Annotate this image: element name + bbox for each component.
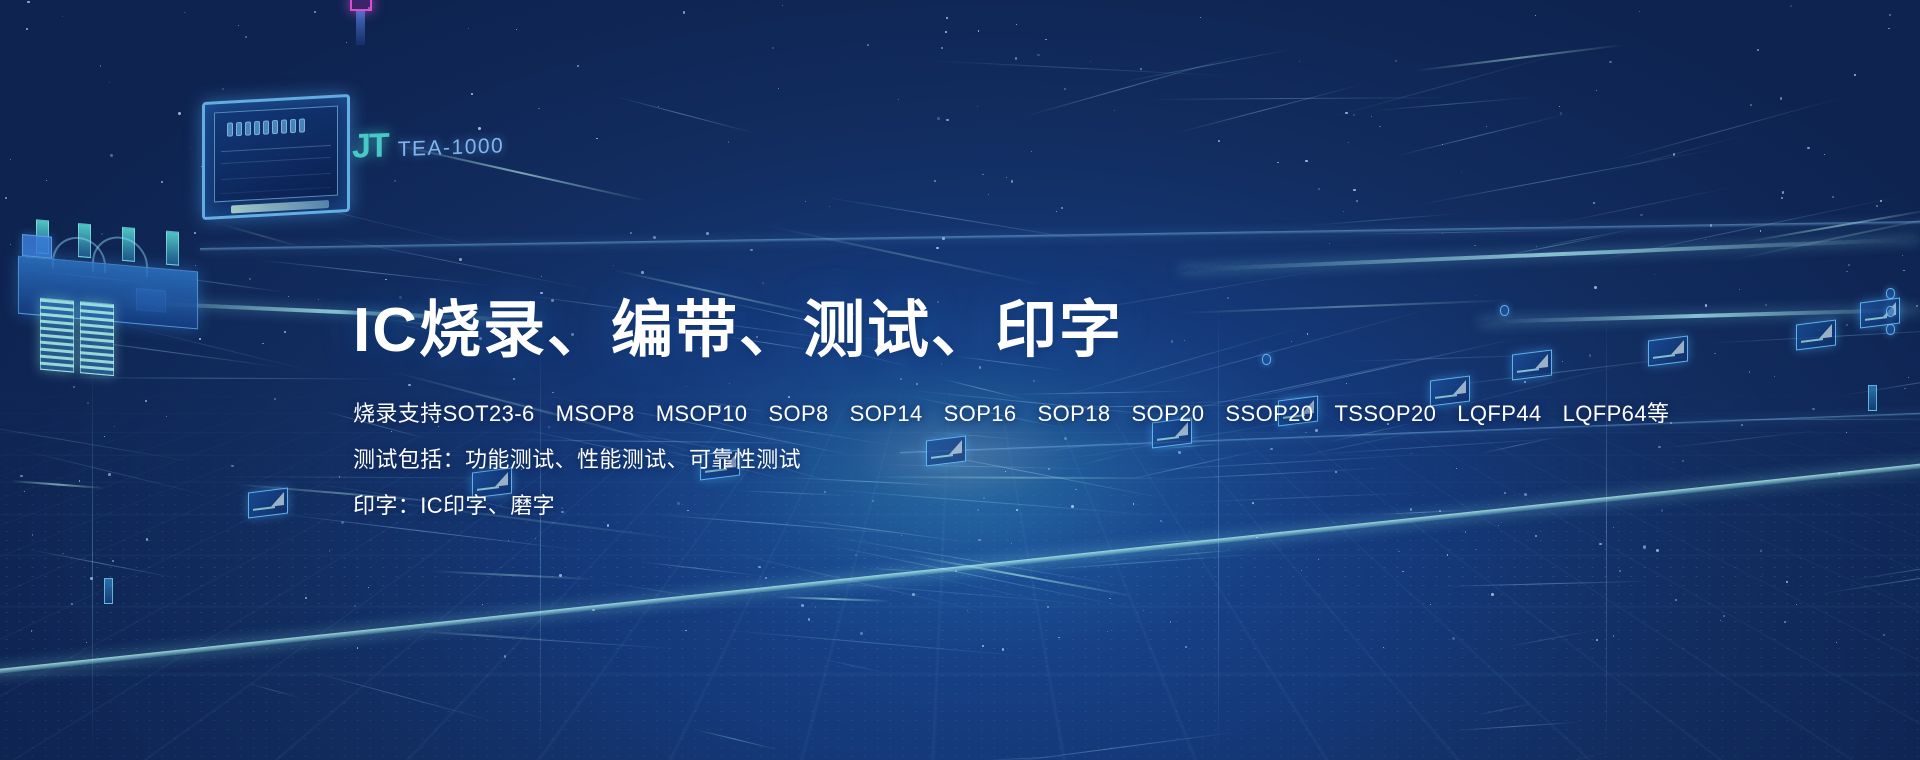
vertical-strip-icon <box>104 578 113 604</box>
equipment-logo: JT TEA-1000 <box>352 122 504 166</box>
star-dot <box>1908 377 1910 379</box>
light-streak <box>220 223 305 249</box>
light-streak <box>1595 133 1753 177</box>
star-dot <box>728 141 730 143</box>
star-dot <box>577 65 579 67</box>
star-dot <box>750 249 752 251</box>
star-dot <box>1200 17 1202 19</box>
star-dot <box>245 36 247 38</box>
star-dot <box>1790 5 1792 7</box>
star-dot <box>1474 245 1476 247</box>
star-dot <box>1559 106 1560 107</box>
star-dot <box>222 88 224 90</box>
star-dot <box>1061 207 1063 209</box>
star-dot <box>1876 205 1878 207</box>
star-dot <box>1639 11 1640 12</box>
star-dot <box>1218 140 1220 142</box>
star-dot <box>1560 112 1563 115</box>
star-dot <box>1673 153 1676 156</box>
star-dot <box>1780 97 1783 100</box>
star-dot <box>284 331 286 333</box>
banner-content: IC烧录、编带、测试、印字 烧录支持SOT23-6MSOP8MSOP10SOP8… <box>353 296 1673 541</box>
star-dot <box>1442 144 1443 145</box>
banner-subtitle-block: 烧录支持SOT23-6MSOP8MSOP10SOP8SOP14SOP16SOP1… <box>353 403 1673 517</box>
star-dot <box>1305 160 1308 163</box>
star-dot <box>1714 353 1715 354</box>
star-dot <box>1356 200 1358 202</box>
package-label: MSOP10 <box>656 403 748 425</box>
star-dot <box>288 296 289 297</box>
star-dot <box>314 11 316 13</box>
star-dot <box>100 65 102 67</box>
package-label: SOP18 <box>1038 403 1111 425</box>
star-dot <box>945 31 947 33</box>
star-dot <box>62 16 63 17</box>
star-dot <box>1318 188 1320 190</box>
star-dot <box>1353 114 1355 116</box>
star-dot <box>1056 211 1057 212</box>
star-dot <box>1090 61 1091 62</box>
light-streak <box>1024 55 1239 117</box>
hero-banner: JT TEA-1000 IC烧录、编带、测试、印字 烧录支持SOT23-6M <box>0 0 1920 760</box>
star-dot <box>934 180 936 182</box>
star-dot <box>1904 388 1905 389</box>
light-streak <box>1393 113 1568 157</box>
monitor-screen <box>214 106 338 203</box>
star-dot <box>26 28 28 30</box>
light-streak <box>1413 44 1625 72</box>
star-dot <box>805 201 806 202</box>
star-dot <box>1343 211 1344 212</box>
star-dot <box>1654 274 1655 275</box>
magenta-led-indicator <box>341 0 377 50</box>
star-dot <box>778 88 779 89</box>
light-streak <box>1120 48 1296 83</box>
light-streak <box>1726 206 1920 262</box>
star-dot <box>782 5 783 6</box>
star-dot <box>1774 376 1776 378</box>
star-dot <box>1353 189 1355 191</box>
star-dot <box>1902 255 1903 256</box>
star-dot <box>1889 14 1892 17</box>
star-dot <box>937 117 940 120</box>
indicator-rod <box>356 11 365 45</box>
package-label: SOP8 <box>768 403 828 425</box>
star-dot <box>1848 264 1850 266</box>
star-dot <box>1140 68 1142 70</box>
star-dot <box>613 265 614 266</box>
light-streak <box>1308 213 1464 226</box>
star-dot <box>238 25 239 26</box>
star-dot <box>898 99 899 100</box>
light-streak <box>925 60 1237 77</box>
star-dot <box>468 28 469 29</box>
node-icon <box>1886 288 1895 299</box>
monitor-icon <box>202 94 350 220</box>
star-dot <box>1593 202 1596 205</box>
star-dot <box>5 197 8 200</box>
package-label: TSSOP20 <box>1334 403 1436 425</box>
star-dot <box>762 282 765 285</box>
ceiling-beam <box>200 220 1920 251</box>
monitor-base <box>231 200 329 213</box>
star-dot <box>1824 154 1825 155</box>
star-dot <box>1705 239 1707 241</box>
star-dot <box>1880 200 1882 202</box>
star-dot <box>1006 177 1007 178</box>
star-dot <box>982 174 984 176</box>
star-dot <box>706 232 709 235</box>
star-dot <box>1045 39 1047 41</box>
screen-bar-graph <box>227 118 305 136</box>
star-dot <box>459 258 462 261</box>
light-streak <box>767 225 1046 286</box>
star-dot <box>1782 191 1785 194</box>
star-dot <box>988 194 989 195</box>
star-dot <box>946 119 948 121</box>
star-dot <box>1846 324 1848 326</box>
package-list: MSOP8MSOP10SOP8SOP14SOP16SOP18SOP20SSOP2… <box>556 401 1670 426</box>
star-dot <box>46 180 47 181</box>
star-dot <box>941 47 943 49</box>
star-dot <box>596 138 598 140</box>
star-dot <box>1760 230 1762 232</box>
light-streak <box>254 259 497 287</box>
star-dot <box>1064 88 1066 90</box>
star-dot <box>1854 74 1856 76</box>
logo-model-text: TEA-1000 <box>398 134 505 162</box>
light-streak <box>1842 369 1920 396</box>
star-dot <box>161 181 164 184</box>
star-dot <box>262 343 264 345</box>
star-dot <box>1765 304 1768 307</box>
star-dot <box>540 292 542 294</box>
star-dot <box>946 17 947 18</box>
star-dot <box>1114 110 1115 111</box>
page-title: IC烧录、编带、测试、印字 <box>353 296 1673 365</box>
package-label: SSOP20 <box>1225 403 1313 425</box>
star-dot <box>1348 142 1349 143</box>
burn-support-lead: 烧录支持SOT23-6 <box>353 403 535 425</box>
test-scope-line: 测试包括：功能测试、性能测试、可靠性测试 <box>353 449 1673 471</box>
node-icon <box>1886 306 1895 317</box>
star-dot <box>1277 162 1279 164</box>
star-dot <box>1609 61 1611 63</box>
package-label: SOP14 <box>850 403 923 425</box>
star-dot <box>978 30 979 31</box>
star-dot <box>1750 104 1752 106</box>
star-dot <box>1846 271 1847 272</box>
star-dot <box>1596 90 1597 91</box>
star-dot <box>936 247 938 249</box>
star-dot <box>394 180 396 182</box>
star-dot <box>27 1 30 4</box>
light-streak <box>1174 83 1367 134</box>
star-dot <box>1379 126 1380 127</box>
star-dot <box>653 236 656 239</box>
star-dot <box>1486 126 1487 127</box>
node-icon <box>1886 324 1895 335</box>
package-label: SOP20 <box>1131 403 1204 425</box>
star-dot <box>109 82 111 84</box>
chip-card-icon <box>1796 320 1836 351</box>
star-dot <box>658 106 659 107</box>
star-dot <box>1903 270 1905 272</box>
star-dot <box>630 232 632 234</box>
star-dot <box>471 93 473 95</box>
star-dot <box>1888 28 1890 30</box>
light-streak <box>1611 96 1846 162</box>
star-dot <box>184 12 185 13</box>
star-dot <box>1011 180 1014 183</box>
pillar-line <box>92 360 93 760</box>
star-dot <box>1781 197 1783 199</box>
star-dot <box>1749 371 1751 373</box>
light-streak <box>1414 149 1715 206</box>
star-dot <box>772 47 774 49</box>
star-dot <box>867 44 869 46</box>
star-dot <box>829 206 830 207</box>
star-dot <box>1299 61 1300 62</box>
star-dot <box>1832 196 1834 198</box>
chip-card-icon <box>248 488 288 519</box>
star-dot <box>1016 24 1017 25</box>
star-dot <box>541 276 542 277</box>
package-label: LQFP44 <box>1457 403 1541 425</box>
industrial-machine-illustration <box>18 214 208 391</box>
light-streak <box>1145 97 1451 100</box>
star-dot <box>10 159 12 161</box>
star-dot <box>516 29 517 30</box>
star-dot <box>178 112 181 115</box>
star-dot <box>1594 286 1597 289</box>
star-dot <box>190 147 191 148</box>
package-label: LQFP64等 <box>1563 403 1670 425</box>
star-dot <box>1536 246 1537 247</box>
star-dot <box>385 279 387 281</box>
light-streak <box>1576 193 1911 265</box>
star-dot <box>683 11 685 13</box>
package-label: MSOP8 <box>556 403 635 425</box>
star-dot <box>1395 60 1397 62</box>
star-dot <box>1345 112 1348 115</box>
star-dot <box>1015 57 1017 59</box>
vertical-strip-icon <box>1868 385 1877 411</box>
light-streak <box>1375 97 1534 111</box>
star-dot <box>1329 243 1330 244</box>
star-dot <box>1037 54 1040 57</box>
light-streak <box>1542 186 1739 228</box>
star-dot <box>249 278 251 280</box>
logo-brand-text: JT <box>352 126 388 166</box>
star-dot <box>1640 214 1643 217</box>
star-dot <box>641 271 644 274</box>
star-dot <box>1442 233 1443 234</box>
star-dot <box>1535 15 1536 16</box>
package-label: SOP16 <box>944 403 1017 425</box>
star-dot <box>1916 305 1918 307</box>
light-streak <box>1322 46 1585 119</box>
led-glyph <box>350 0 372 11</box>
marking-line: 印字：IC印字、磨字 <box>353 495 1673 517</box>
light-streak <box>1540 228 1636 247</box>
star-dot <box>1031 151 1032 152</box>
star-dot <box>1371 116 1372 117</box>
star-dot <box>318 299 319 300</box>
burn-support-line: 烧录支持SOT23-6MSOP8MSOP10SOP8SOP14SOP16SOP1… <box>353 403 1673 425</box>
star-dot <box>10 244 11 245</box>
star-dot <box>1461 172 1463 174</box>
star-dot <box>110 154 113 157</box>
rack-shelf <box>1180 237 1920 272</box>
star-dot <box>977 106 978 107</box>
star-dot <box>538 108 540 110</box>
star-dot <box>1757 49 1759 51</box>
light-streak <box>615 96 759 135</box>
star-dot <box>1807 147 1809 149</box>
star-dot <box>1739 289 1740 290</box>
star-dot <box>1705 304 1708 307</box>
